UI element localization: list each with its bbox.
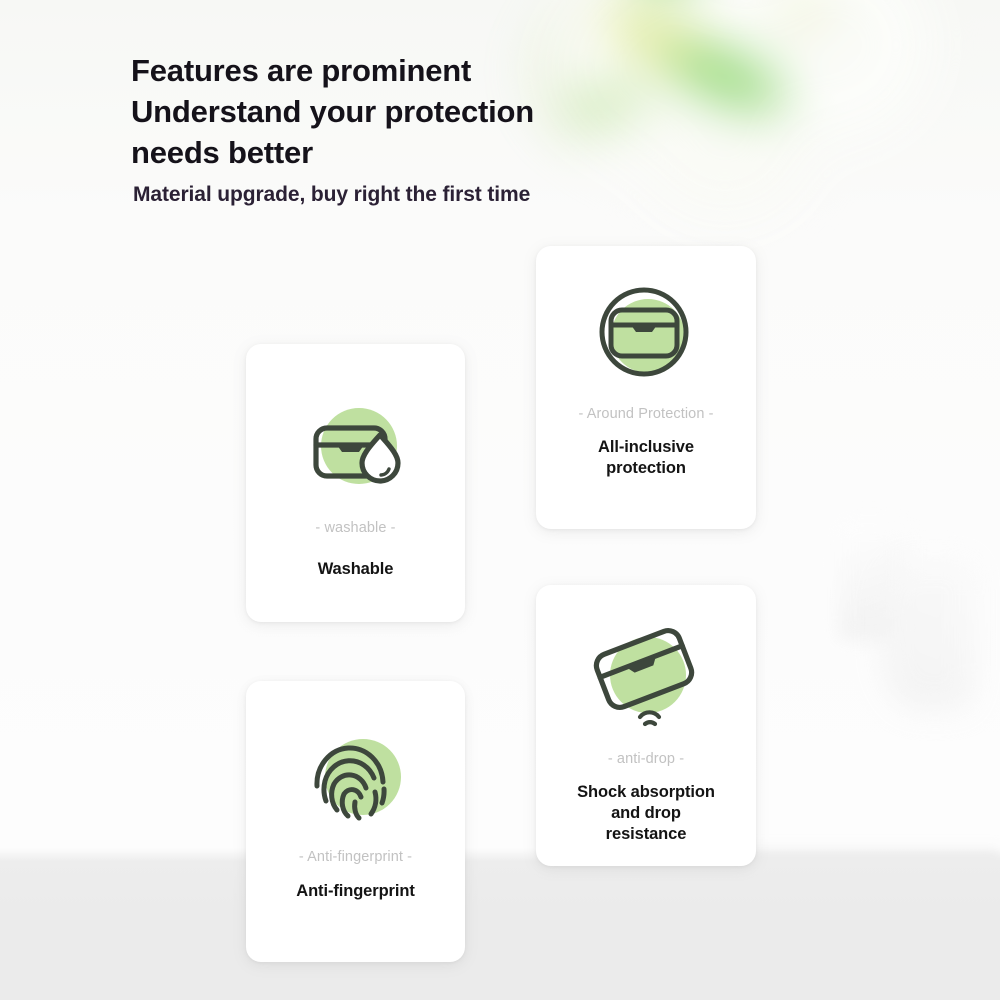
feature-card-anti-fingerprint[interactable]: - Anti-fingerprint - Anti-fingerprint (246, 681, 465, 962)
page-title: Features are prominent Understand your p… (131, 50, 771, 173)
page-subtitle: Material upgrade, buy right the first ti… (133, 183, 530, 207)
case-water-drop-icon (296, 396, 416, 500)
card-caption: - washable - (315, 520, 395, 536)
card-title-line-1: Shock absorption (577, 783, 715, 801)
blurred-object-right-secondary (880, 560, 975, 710)
card-caption: - Anti-fingerprint - (299, 849, 412, 865)
card-caption: - Around Protection - (578, 406, 713, 422)
card-title: Shock absorption and drop resistance (577, 782, 715, 845)
headline-line-3: needs better (131, 132, 771, 173)
card-title: Washable (318, 559, 394, 580)
feature-card-anti-drop[interactable]: - anti-drop - Shock absorption and drop … (536, 585, 756, 866)
headline-line-1: Features are prominent (131, 50, 771, 91)
card-title-line-1: All-inclusive (598, 438, 694, 456)
card-title-line-2: protection (606, 459, 686, 477)
card-title: Anti-fingerprint (296, 881, 414, 902)
table-surface (0, 848, 1000, 1000)
tilted-case-bounce-icon (586, 625, 706, 729)
feature-card-washable[interactable]: - washable - Washable (246, 344, 465, 622)
card-title-line-3: resistance (606, 825, 687, 843)
fingerprint-icon (296, 725, 416, 829)
card-title-line-2: and drop (611, 804, 681, 822)
feature-card-all-inclusive-protection[interactable]: - Around Protection - All-inclusive prot… (536, 246, 756, 529)
card-caption: - anti-drop - (608, 751, 684, 767)
blurred-leaf-pale (770, 0, 840, 30)
case-in-ring-icon (586, 282, 706, 386)
feature-highlights-page: Features are prominent Understand your p… (0, 0, 1000, 1000)
card-title: All-inclusive protection (598, 437, 694, 479)
headline-line-2: Understand your protection (131, 91, 771, 132)
